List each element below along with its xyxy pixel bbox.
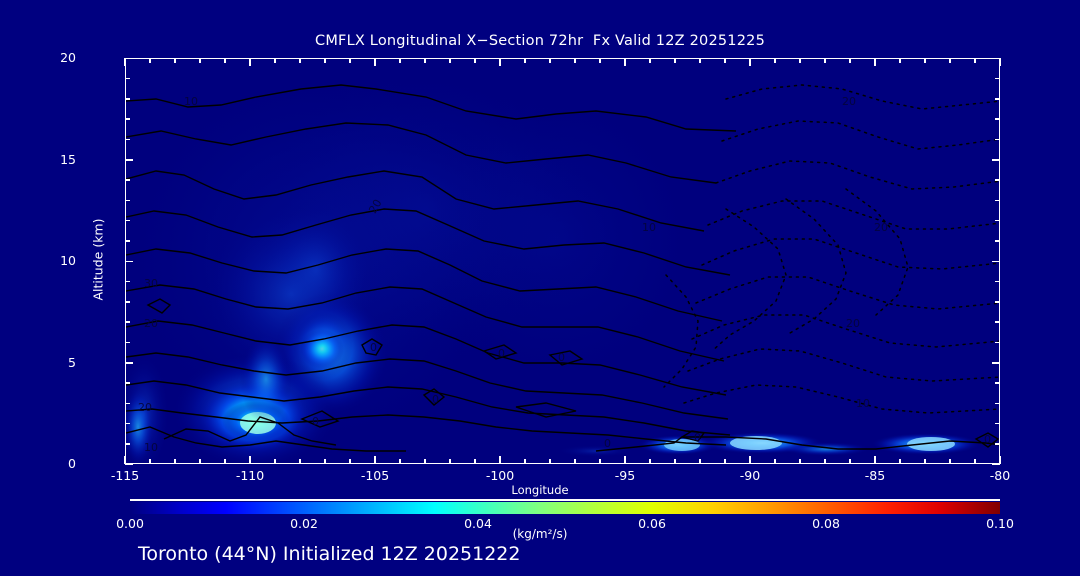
x-tick-major bbox=[624, 58, 626, 66]
x-tick-minor bbox=[324, 459, 326, 464]
colorbar-top-rule bbox=[130, 499, 1000, 501]
y-tick-minor bbox=[995, 443, 1000, 445]
y-tick-minor bbox=[995, 301, 1000, 303]
x-tick-label: -115 bbox=[95, 468, 155, 483]
contour-label: 0 bbox=[312, 415, 319, 428]
contour-label: 20 bbox=[842, 95, 856, 108]
y-tick-minor bbox=[125, 240, 130, 242]
contour-label: 10 bbox=[642, 221, 656, 234]
contour-label: 20 bbox=[846, 317, 860, 330]
x-tick-minor bbox=[299, 58, 301, 63]
y-tick-label: 10 bbox=[36, 253, 76, 268]
y-tick-minor bbox=[125, 301, 130, 303]
x-tick-minor bbox=[199, 459, 201, 464]
y-tick-major bbox=[992, 261, 1000, 263]
x-tick-minor bbox=[699, 58, 701, 63]
y-tick-major bbox=[125, 464, 133, 466]
contour-label: 0 bbox=[370, 341, 377, 354]
x-tick-minor bbox=[224, 58, 226, 63]
x-tick-major bbox=[124, 456, 126, 464]
colorbar-units: (kg/m²/s) bbox=[0, 527, 1080, 541]
x-tick-label: -80 bbox=[970, 468, 1030, 483]
y-tick-minor bbox=[125, 139, 130, 141]
x-tick-major bbox=[124, 58, 126, 66]
x-tick-minor bbox=[324, 58, 326, 63]
x-tick-minor bbox=[774, 459, 776, 464]
x-tick-minor bbox=[149, 459, 151, 464]
x-tick-minor bbox=[949, 58, 951, 63]
x-tick-minor bbox=[974, 58, 976, 63]
x-tick-major bbox=[249, 456, 251, 464]
y-tick-label: 5 bbox=[36, 355, 76, 370]
x-tick-minor bbox=[824, 58, 826, 63]
y-tick-label: 15 bbox=[36, 152, 76, 167]
x-tick-minor bbox=[599, 459, 601, 464]
y-tick-minor bbox=[125, 200, 130, 202]
contour-label: 0 bbox=[984, 433, 991, 446]
x-tick-minor bbox=[449, 58, 451, 63]
y-tick-minor bbox=[125, 382, 130, 384]
x-tick-minor bbox=[949, 459, 951, 464]
y-tick-major bbox=[992, 362, 1000, 364]
x-tick-label: -85 bbox=[845, 468, 905, 483]
x-tick-minor bbox=[649, 459, 651, 464]
y-tick-major bbox=[125, 159, 133, 161]
y-tick-minor bbox=[995, 78, 1000, 80]
y-axis-label: Altitude (km) bbox=[88, 190, 108, 330]
x-tick-minor bbox=[549, 459, 551, 464]
x-tick-minor bbox=[524, 58, 526, 63]
contour-label: 0 bbox=[498, 347, 505, 360]
footer-caption: Toronto (44°N) Initialized 12Z 20251222 bbox=[138, 543, 521, 565]
contour-label: 10 bbox=[184, 95, 198, 108]
x-tick-minor bbox=[774, 58, 776, 63]
x-tick-major bbox=[499, 58, 501, 66]
x-tick-minor bbox=[699, 459, 701, 464]
x-tick-minor bbox=[899, 58, 901, 63]
x-tick-minor bbox=[574, 58, 576, 63]
contour-label: 0 bbox=[432, 393, 439, 406]
chart-title: CMFLX Longitudinal X−Section 72hr Fx Val… bbox=[0, 33, 1080, 49]
x-tick-minor bbox=[424, 58, 426, 63]
contour-label: 0 bbox=[604, 437, 611, 450]
x-tick-minor bbox=[399, 58, 401, 63]
y-tick-minor bbox=[995, 423, 1000, 425]
x-tick-minor bbox=[799, 459, 801, 464]
y-tick-major bbox=[125, 58, 133, 60]
y-tick-minor bbox=[995, 118, 1000, 120]
x-tick-minor bbox=[974, 459, 976, 464]
x-tick-major bbox=[749, 58, 751, 66]
x-tick-minor bbox=[849, 58, 851, 63]
x-tick-minor bbox=[599, 58, 601, 63]
y-tick-minor bbox=[995, 98, 1000, 100]
x-tick-minor bbox=[924, 58, 926, 63]
x-tick-major bbox=[374, 456, 376, 464]
x-tick-major bbox=[874, 456, 876, 464]
y-tick-minor bbox=[995, 179, 1000, 181]
y-tick-minor bbox=[125, 403, 130, 405]
y-tick-minor bbox=[125, 281, 130, 283]
x-tick-minor bbox=[474, 58, 476, 63]
x-tick-minor bbox=[149, 58, 151, 63]
y-tick-minor bbox=[995, 281, 1000, 283]
y-tick-minor bbox=[125, 98, 130, 100]
plot-area: 10 20 30 20 20 10 0 0 0 0 0 0 20 10 20 2… bbox=[125, 58, 1000, 464]
x-tick-minor bbox=[724, 58, 726, 63]
x-tick-minor bbox=[849, 459, 851, 464]
x-tick-major bbox=[499, 456, 501, 464]
x-tick-major bbox=[999, 58, 1001, 66]
colorbar-gradient bbox=[130, 502, 1000, 514]
x-tick-minor bbox=[899, 459, 901, 464]
y-tick-minor bbox=[125, 342, 130, 344]
x-tick-label: -95 bbox=[595, 468, 655, 483]
x-tick-major bbox=[999, 456, 1001, 464]
x-tick-minor bbox=[799, 58, 801, 63]
y-tick-minor bbox=[995, 200, 1000, 202]
x-tick-minor bbox=[174, 459, 176, 464]
x-tick-major bbox=[374, 58, 376, 66]
x-axis-label: Longitude bbox=[0, 483, 1080, 497]
y-tick-minor bbox=[125, 321, 130, 323]
y-tick-minor bbox=[995, 403, 1000, 405]
y-tick-major bbox=[125, 261, 133, 263]
y-tick-minor bbox=[125, 220, 130, 222]
x-tick-minor bbox=[349, 58, 351, 63]
x-tick-minor bbox=[724, 459, 726, 464]
contour-label: 20 bbox=[138, 401, 152, 414]
y-axis-label-text: Altitude (km) bbox=[91, 180, 106, 340]
x-tick-minor bbox=[649, 58, 651, 63]
y-tick-minor bbox=[125, 78, 130, 80]
x-tick-minor bbox=[274, 58, 276, 63]
x-tick-minor bbox=[824, 459, 826, 464]
x-tick-minor bbox=[199, 58, 201, 63]
x-tick-label: -90 bbox=[720, 468, 780, 483]
x-tick-minor bbox=[224, 459, 226, 464]
contour-label: 20 bbox=[144, 317, 158, 330]
x-tick-minor bbox=[424, 459, 426, 464]
x-tick-minor bbox=[549, 58, 551, 63]
y-tick-label: 20 bbox=[36, 50, 76, 65]
plot-frame: 10 20 30 20 20 10 0 0 0 0 0 0 20 10 20 2… bbox=[125, 58, 1000, 464]
y-tick-minor bbox=[995, 139, 1000, 141]
x-tick-minor bbox=[274, 459, 276, 464]
x-tick-minor bbox=[299, 459, 301, 464]
y-tick-minor bbox=[995, 382, 1000, 384]
y-tick-major bbox=[125, 362, 133, 364]
y-tick-minor bbox=[995, 342, 1000, 344]
y-tick-minor bbox=[995, 321, 1000, 323]
colorbar[interactable] bbox=[130, 502, 1000, 514]
y-tick-minor bbox=[125, 118, 130, 120]
chart-root: CMFLX Longitudinal X−Section 72hr Fx Val… bbox=[0, 0, 1080, 576]
x-tick-minor bbox=[174, 58, 176, 63]
x-tick-minor bbox=[674, 58, 676, 63]
x-tick-minor bbox=[674, 459, 676, 464]
y-tick-minor bbox=[995, 220, 1000, 222]
cross-section-field: 10 20 30 20 20 10 0 0 0 0 0 0 20 10 20 2… bbox=[126, 59, 1000, 464]
x-tick-label: -105 bbox=[345, 468, 405, 483]
y-tick-minor bbox=[125, 443, 130, 445]
contour-label: 0 bbox=[694, 431, 701, 444]
x-tick-major bbox=[249, 58, 251, 66]
x-tick-minor bbox=[349, 459, 351, 464]
x-tick-minor bbox=[574, 459, 576, 464]
y-tick-minor bbox=[125, 179, 130, 181]
x-tick-minor bbox=[449, 459, 451, 464]
x-tick-label: -110 bbox=[220, 468, 280, 483]
x-tick-major bbox=[874, 58, 876, 66]
y-tick-major bbox=[992, 159, 1000, 161]
x-tick-major bbox=[624, 456, 626, 464]
x-tick-minor bbox=[924, 459, 926, 464]
x-tick-minor bbox=[524, 459, 526, 464]
x-tick-major bbox=[749, 456, 751, 464]
x-tick-minor bbox=[474, 459, 476, 464]
contour-label: 0 bbox=[558, 351, 565, 364]
contour-label: 10 bbox=[144, 441, 158, 454]
contour-label: 10 bbox=[856, 397, 870, 410]
contour-label: 20 bbox=[874, 221, 888, 234]
y-tick-minor bbox=[125, 423, 130, 425]
y-tick-minor bbox=[995, 240, 1000, 242]
y-tick-label: 0 bbox=[36, 456, 76, 471]
x-tick-label: -100 bbox=[470, 468, 530, 483]
contour-label: 30 bbox=[144, 277, 158, 290]
x-tick-minor bbox=[399, 459, 401, 464]
